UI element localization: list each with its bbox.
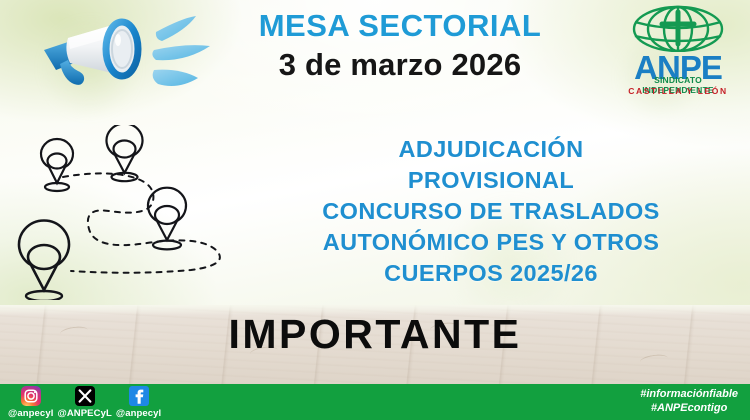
- instagram-icon[interactable]: [21, 386, 41, 406]
- importante-banner: IMPORTANTE: [0, 311, 750, 358]
- instagram-handle: @anpecyl: [8, 408, 53, 419]
- social-link-x[interactable]: @ANPECyL: [57, 386, 111, 419]
- main-announcement: ADJUDICACIÓN PROVISIONAL CONCURSO DE TRA…: [232, 134, 750, 289]
- announcement-line-5: CUERPOS 2025/26: [232, 258, 750, 289]
- map-pins-route-icon: [5, 125, 265, 300]
- social-link-instagram[interactable]: @anpecyl: [8, 386, 53, 419]
- announcement-line-1: ADJUDICACIÓN: [232, 134, 750, 165]
- facebook-handle: @anpecyl: [116, 408, 161, 419]
- social-link-facebook[interactable]: @anpecyl: [116, 386, 161, 419]
- hashtag-anpe-contigo: #ANPEcontigo: [640, 402, 738, 416]
- announcement-line-4: AUTONÓMICO PES Y OTROS: [232, 227, 750, 258]
- globe-icon: [618, 4, 738, 52]
- announcement-line-2: PROVISIONAL: [232, 165, 750, 196]
- page-title: MESA SECTORIAL: [200, 10, 600, 43]
- hashtags: #informaciónfiable #ANPEcontigo: [640, 388, 738, 416]
- hashtag-informacion-fiable: #informaciónfiable: [640, 388, 738, 402]
- anpe-logo: ANPE SINDICATO INDEPENDIENTE CASTILLA Y …: [618, 4, 738, 100]
- header-title-block: MESA SECTORIAL 3 de marzo 2026: [200, 10, 600, 84]
- x-handle: @ANPECyL: [57, 408, 111, 419]
- megaphone-icon: [30, 8, 220, 98]
- event-date: 3 de marzo 2026: [200, 46, 600, 85]
- announcement-line-3: CONCURSO DE TRASLADOS: [232, 196, 750, 227]
- social-links: @anpecyl @ANPECyL @anpecyl: [8, 386, 165, 419]
- x-twitter-icon[interactable]: [75, 386, 95, 406]
- anpe-logo-region: CASTILLA Y LEÓN: [618, 86, 738, 96]
- facebook-icon[interactable]: [129, 386, 149, 406]
- poster: MESA SECTORIAL 3 de marzo 2026 ANPE SIND…: [0, 0, 750, 420]
